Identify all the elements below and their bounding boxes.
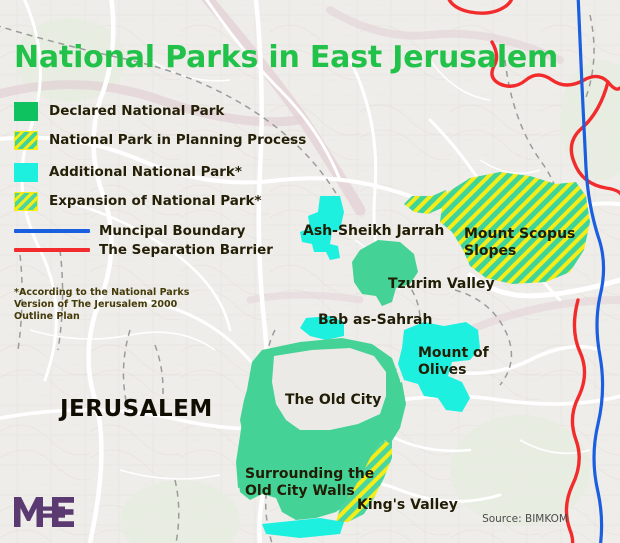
legend-item-expansion-of-national-park: Expansion of National Park* <box>14 190 306 212</box>
map-label-kings-valley: King's Valley <box>357 497 458 514</box>
legend-item-muncipal-boundary: Muncipal Boundary <box>14 221 306 240</box>
national-parks-map-infographic: National Parks in East Jerusalem Declare… <box>0 0 620 543</box>
map-label-mount-of-olives: Mount of Olives <box>418 345 489 379</box>
page-title: National Parks in East Jerusalem <box>14 40 558 75</box>
legend-label-the-separation-barrier: The Separation Barrier <box>99 242 273 258</box>
hatched-cyan-yellow-swatch-icon <box>14 192 38 211</box>
legend: Declared National Park National Park in … <box>14 100 306 259</box>
legend-label-declared-national-park: Declared National Park <box>49 103 224 119</box>
municipal-boundary-line <box>578 0 604 543</box>
legend-item-national-park-in-planning-process: National Park in Planning Process <box>14 129 306 151</box>
legend-label-muncipal-boundary: Muncipal Boundary <box>99 223 245 239</box>
mee-logo <box>12 495 80 529</box>
map-label-tzurim-valley: Tzurim Valley <box>388 276 495 293</box>
legend-label-national-park-in-planning-process: National Park in Planning Process <box>49 132 306 148</box>
map-label-bab-as-sahrah: Bab as-Sahrah <box>318 312 432 329</box>
mee-logo-glyphs <box>14 497 74 527</box>
separation-barrier-line-4 <box>566 300 584 543</box>
red-line-sample-icon <box>14 248 90 252</box>
legend-lines-group: Muncipal Boundary The Separation Barrier <box>14 221 306 259</box>
legend-item-declared-national-park: Declared National Park <box>14 100 306 122</box>
separation-barrier-line <box>447 0 512 13</box>
map-label-the-old-city: The Old City <box>285 392 381 409</box>
legend-item-additional-national-park: Additional National Park* <box>14 161 306 183</box>
legend-item-the-separation-barrier: The Separation Barrier <box>14 240 306 259</box>
legend-label-expansion-of-national-park: Expansion of National Park* <box>49 193 262 209</box>
legend-label-additional-national-park: Additional National Park* <box>49 164 242 180</box>
map-label-mount-scopus-slopes: Mount Scopus Slopes <box>464 226 620 260</box>
map-label-surrounding-the-old-city-walls: Surrounding the Old City Walls <box>245 466 374 500</box>
map-label-jerusalem: JERUSALEM <box>60 396 213 422</box>
hatched-green-yellow-swatch-icon <box>14 131 38 150</box>
solid-cyan-swatch-icon <box>14 163 38 182</box>
separation-barrier-line-3 <box>571 82 620 196</box>
source-credit: Source: BIMKOM <box>482 513 568 525</box>
legend-footnote: *According to the National Parks Version… <box>14 287 189 323</box>
map-label-ash-sheikh-jarrah: Ash-Sheikh Jarrah <box>303 223 444 240</box>
boundary-lines-overlay <box>0 0 620 543</box>
solid-green-swatch-icon <box>14 102 38 121</box>
blue-line-sample-icon <box>14 229 90 233</box>
